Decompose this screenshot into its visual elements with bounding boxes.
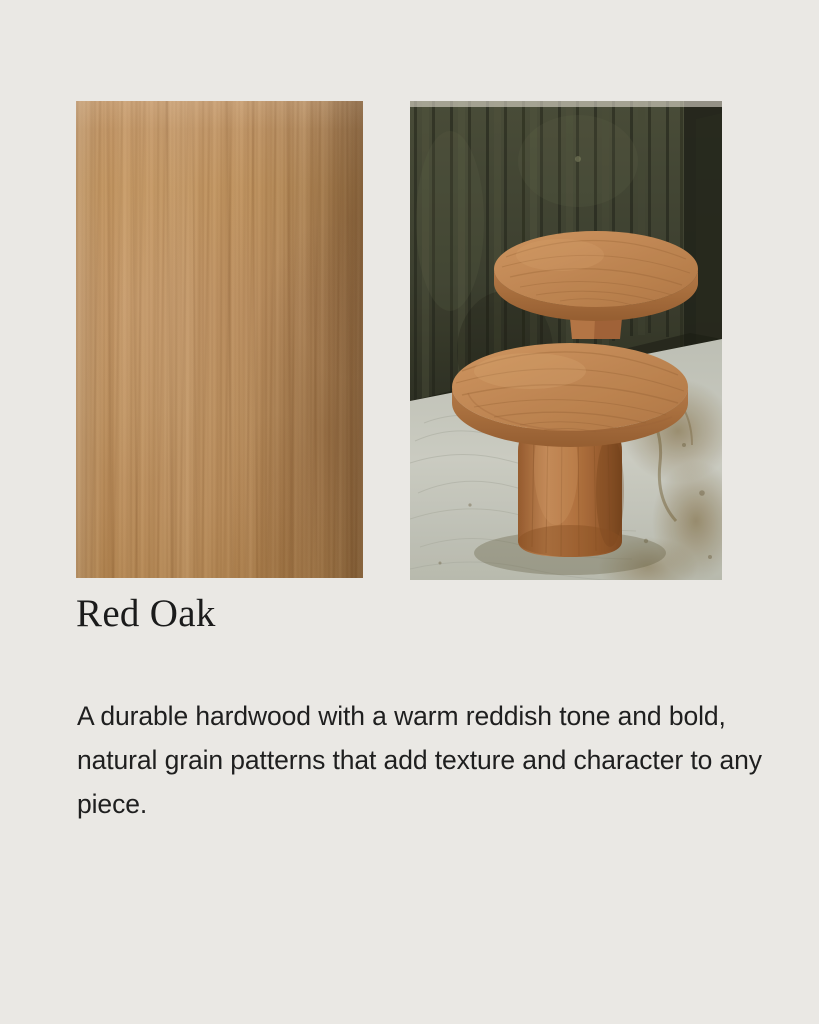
wood-vignette-layer: [76, 101, 363, 578]
page-title: Red Oak: [76, 591, 216, 637]
side-table-photo: [410, 101, 722, 580]
wood-grain-swatch-image: [76, 101, 363, 578]
side-table-photo-illustration: [410, 101, 722, 580]
description-text: A durable hardwood with a warm reddish t…: [77, 694, 767, 826]
media-row: [76, 101, 722, 580]
wood-species-card: Red Oak A durable hardwood with a warm r…: [0, 0, 819, 1024]
